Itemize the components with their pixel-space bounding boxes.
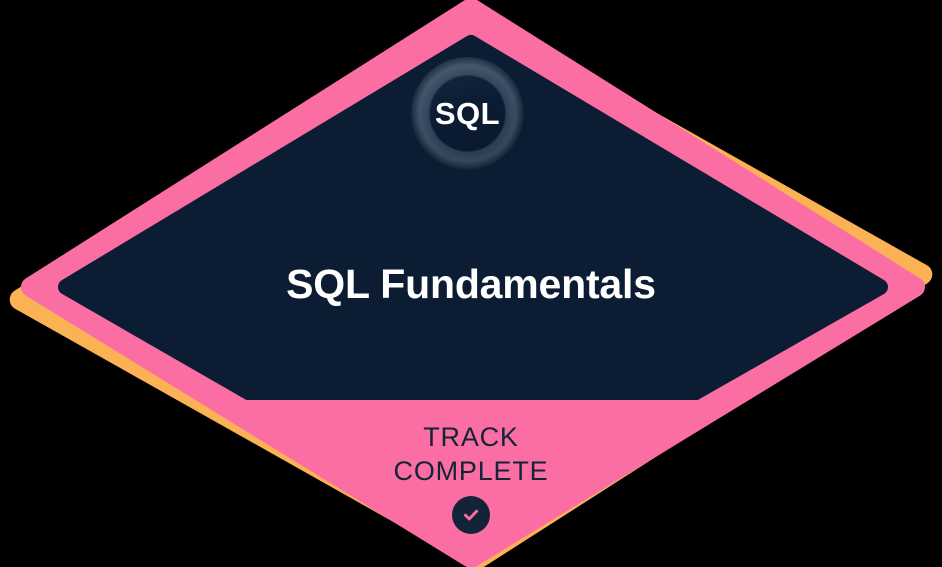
badge-graphic	[0, 0, 942, 567]
track-completion-badge: SQL SQL Fundamentals TRACK COMPLETE	[0, 0, 942, 567]
